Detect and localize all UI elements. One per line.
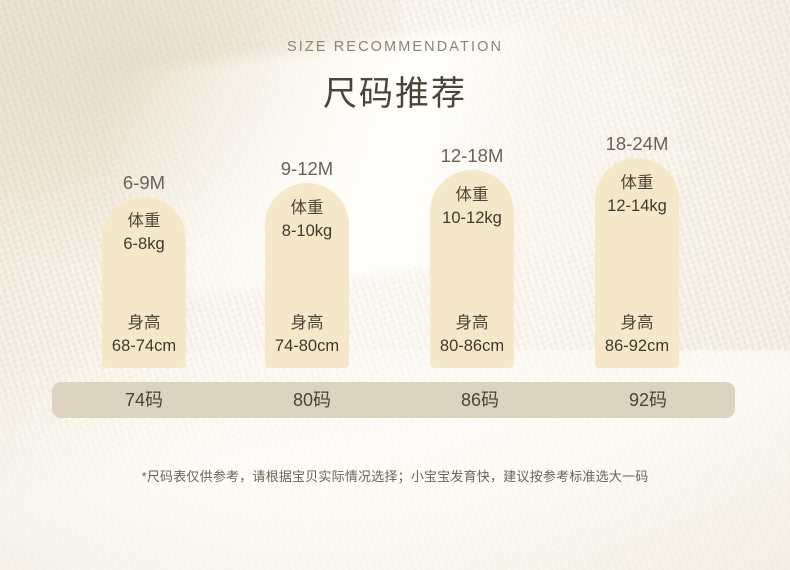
size-code-cell: 80码 [228, 382, 396, 418]
height-block: 身高 68-74cm [102, 312, 186, 358]
weight-block: 体重 8-10kg [265, 197, 349, 243]
height-value: 74-80cm [265, 335, 349, 358]
height-block: 身高 86-92cm [595, 312, 679, 358]
weight-value: 12-14kg [595, 195, 679, 218]
height-label: 身高 [595, 312, 679, 335]
spec-card: 体重 8-10kg 身高 74-80cm [265, 183, 349, 368]
height-block: 身高 74-80cm [265, 312, 349, 358]
weight-value: 6-8kg [102, 233, 186, 256]
size-code-cell: 86码 [396, 382, 564, 418]
height-block: 身高 80-86cm [430, 312, 514, 358]
age-label: 18-24M [606, 133, 669, 155]
age-label: 6-9M [123, 172, 165, 194]
weight-label: 体重 [430, 184, 514, 207]
size-code-cell: 92码 [564, 382, 732, 418]
weight-block: 体重 12-14kg [595, 172, 679, 218]
footnote-disclaimer: *尺码表仅供参考，请根据宝贝实际情况选择；小宝宝发育快，建议按参考标准选大一码 [0, 466, 790, 485]
height-label: 身高 [102, 312, 186, 335]
size-recommendation-page: SIZE RECOMMENDATION 尺码推荐 6-9M 体重 6-8kg 身… [0, 0, 790, 570]
height-label: 身高 [265, 312, 349, 335]
weight-label: 体重 [265, 197, 349, 220]
content-layer: SIZE RECOMMENDATION 尺码推荐 6-9M 体重 6-8kg 身… [0, 0, 790, 570]
weight-block: 体重 6-8kg [102, 210, 186, 256]
weight-label: 体重 [595, 172, 679, 195]
weight-value: 10-12kg [430, 207, 514, 230]
height-value: 80-86cm [430, 335, 514, 358]
spec-card: 体重 10-12kg 身高 80-86cm [430, 170, 514, 368]
weight-block: 体重 10-12kg [430, 184, 514, 230]
age-label: 12-18M [441, 145, 504, 167]
height-value: 86-92cm [595, 335, 679, 358]
size-code-cell: 74码 [60, 382, 228, 418]
weight-label: 体重 [102, 210, 186, 233]
spec-card: 体重 6-8kg 身高 68-74cm [102, 197, 186, 368]
height-label: 身高 [430, 312, 514, 335]
spec-card: 体重 12-14kg 身高 86-92cm [595, 158, 679, 368]
size-code-bar: 74码 80码 86码 92码 [52, 382, 735, 418]
weight-value: 8-10kg [265, 220, 349, 243]
height-value: 68-74cm [102, 335, 186, 358]
age-label: 9-12M [281, 158, 333, 180]
